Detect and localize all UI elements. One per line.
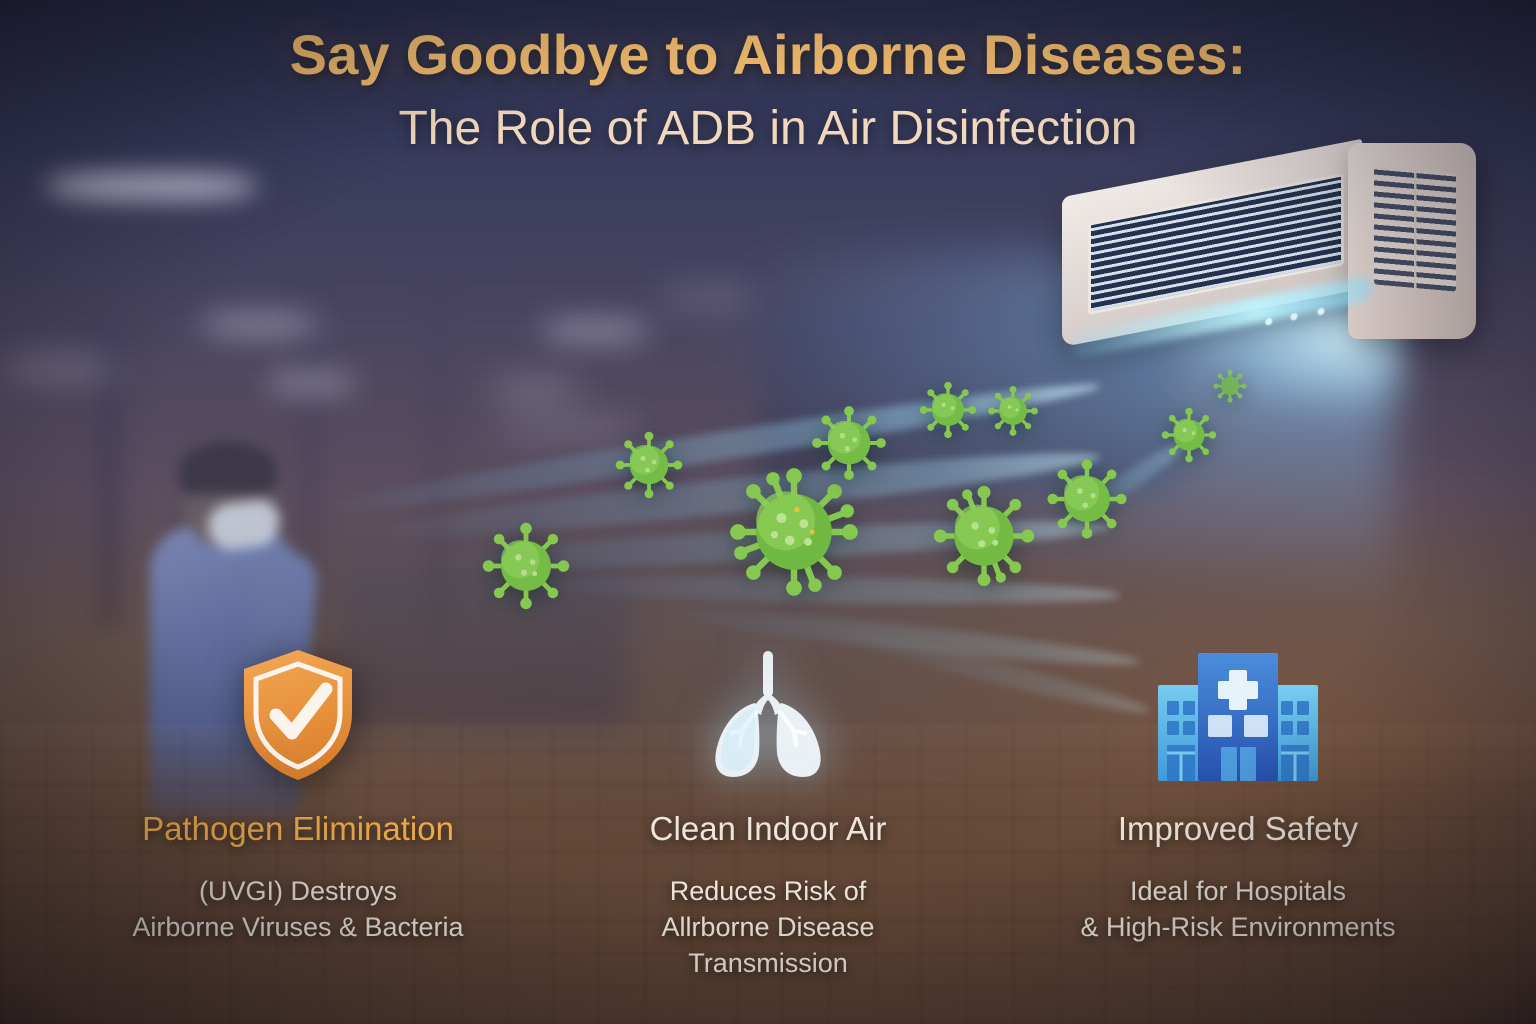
hospital-building-icon [1158, 643, 1318, 788]
airborne-virus-particle [478, 518, 574, 614]
feature-description: (UVGI) Destroys Airborne Viruses & Bacte… [63, 874, 533, 946]
ceiling-light-strip [0, 360, 120, 378]
poster-headings: Say Goodbye to Airborne Diseases: The Ro… [0, 22, 1536, 156]
feature-icon-wrap [533, 620, 1003, 788]
feature-desc-line: (UVGI) Destroys [63, 874, 533, 910]
airborne-virus-particle [928, 480, 1040, 592]
airborne-virus-particle [1210, 366, 1250, 406]
feature-card-pathogen-elimination: Pathogen Elimination (UVGI) Destroys Air… [63, 620, 533, 946]
feature-icon-wrap [63, 620, 533, 788]
feature-title: Pathogen Elimination [63, 810, 533, 848]
feature-desc-line: Transmission [533, 946, 1003, 982]
airborne-virus-particle [984, 382, 1042, 440]
feature-desc-line: Ideal for Hospitals [1003, 874, 1473, 910]
ac-unit-side-vent-divider [1374, 166, 1456, 291]
ceiling-light-strip [200, 316, 322, 334]
feature-card-improved-safety: Improved Safety Ideal for Hospitals & Hi… [1003, 620, 1473, 946]
feature-title: Clean Indoor Air [533, 810, 1003, 848]
lungs-icon [695, 647, 841, 788]
airborne-virus-particle [612, 428, 686, 502]
page-subtitle: The Role of ADB in Air Disinfection [0, 101, 1536, 156]
shield-check-icon [238, 647, 358, 788]
feature-icon-wrap [1003, 620, 1473, 788]
infographic-poster: Say Goodbye to Airborne Diseases: The Ro… [0, 0, 1536, 1024]
feature-description: Ideal for Hospitals & High-Risk Environm… [1003, 874, 1473, 946]
airborne-virus-particle [1158, 404, 1220, 466]
airborne-virus-particle [808, 402, 890, 484]
airborne-virus-particle [916, 378, 980, 442]
feature-desc-line: Airborne Viruses & Bacteria [63, 910, 533, 946]
feature-desc-line: & High-Risk Environments [1003, 910, 1473, 946]
ceiling-light-strip [266, 375, 356, 391]
feature-description: Reduces Risk of Allrborne Disease Transm… [533, 874, 1003, 982]
wall-mounted-air-disinfection-unit [1062, 138, 1482, 378]
ceiling-light-strip [660, 290, 756, 305]
airborne-virus-particle [1043, 455, 1131, 543]
ceiling-light-strip [540, 322, 650, 340]
ceiling-light-strip [44, 173, 258, 199]
background-wall-column [430, 290, 446, 630]
ceiling-light-strip [488, 382, 582, 398]
feature-desc-line: Allrborne Disease [533, 910, 1003, 946]
worker-hair [180, 442, 276, 494]
page-title: Say Goodbye to Airborne Diseases: [0, 22, 1536, 87]
feature-title: Improved Safety [1003, 810, 1473, 848]
feature-row: Pathogen Elimination (UVGI) Destroys Air… [0, 620, 1536, 982]
feature-card-clean-indoor-air: Clean Indoor Air Reduces Risk of Allrbor… [533, 620, 1003, 982]
feature-desc-line: Reduces Risk of [533, 874, 1003, 910]
